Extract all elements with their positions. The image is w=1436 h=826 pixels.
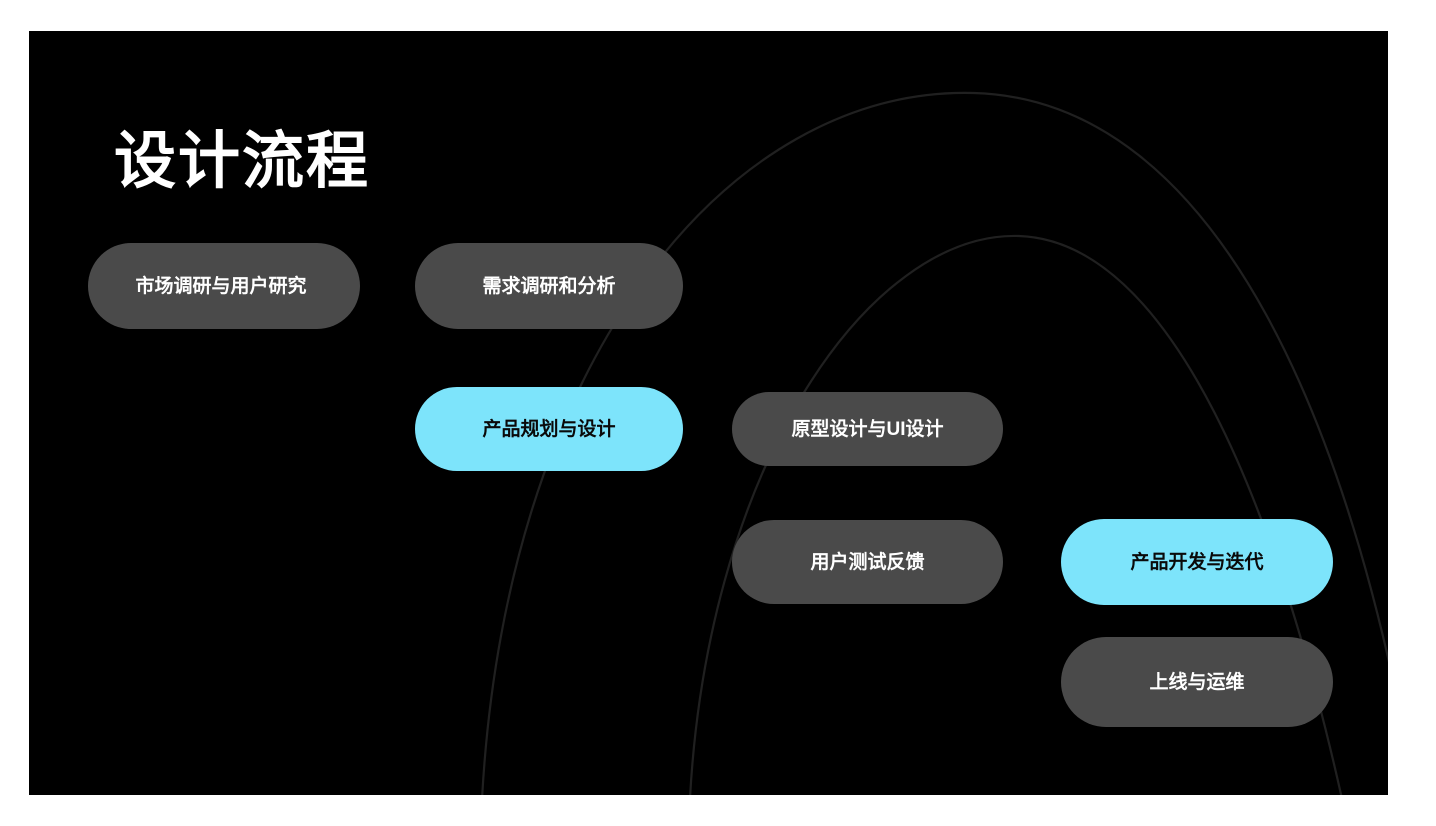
step-pill-product-planning[interactable]: 产品规划与设计 [415, 387, 683, 471]
step-label: 用户测试反馈 [732, 553, 1003, 572]
step-pill-launch-operations[interactable]: 上线与运维 [1061, 637, 1333, 727]
slide-root: 设计流程 市场调研与用户研究 需求调研和分析 产品规划与设计 原型设计与UI设计… [0, 0, 1436, 826]
step-pill-prototype-ui-design[interactable]: 原型设计与UI设计 [732, 392, 1003, 466]
step-pill-product-development[interactable]: 产品开发与迭代 [1061, 519, 1333, 605]
step-label: 产品规划与设计 [415, 420, 683, 439]
step-label: 原型设计与UI设计 [732, 420, 1003, 439]
step-pill-requirements-analysis[interactable]: 需求调研和分析 [415, 243, 683, 329]
step-label: 需求调研和分析 [415, 277, 683, 296]
step-pill-market-research[interactable]: 市场调研与用户研究 [88, 243, 360, 329]
step-label: 上线与运维 [1061, 673, 1333, 692]
page-title: 设计流程 [114, 128, 370, 196]
step-label: 产品开发与迭代 [1061, 553, 1333, 572]
slide-canvas: 设计流程 市场调研与用户研究 需求调研和分析 产品规划与设计 原型设计与UI设计… [29, 31, 1388, 795]
step-pill-user-testing-feedback[interactable]: 用户测试反馈 [732, 520, 1003, 604]
step-label: 市场调研与用户研究 [88, 277, 360, 296]
